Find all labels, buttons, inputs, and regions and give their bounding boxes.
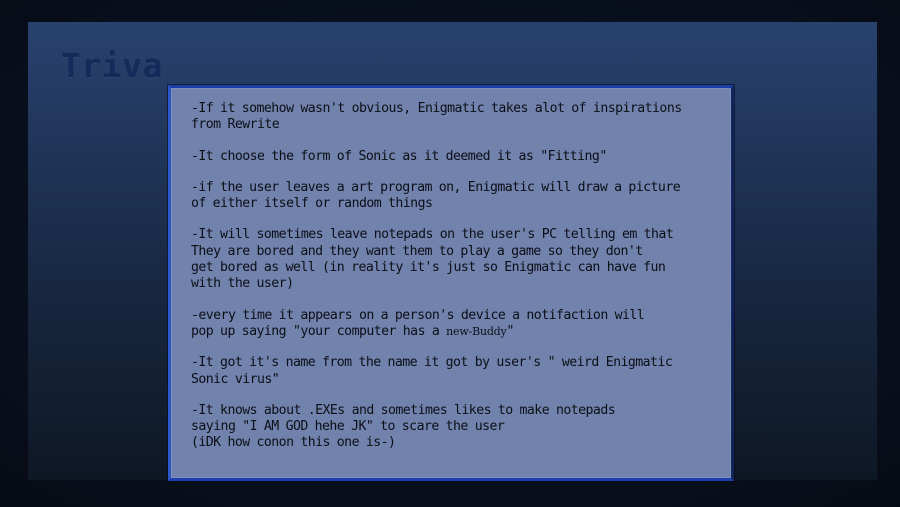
trivia-line: -It got it's name from the name it got b… — [191, 355, 672, 370]
slide-panel: Triva -If it somehow wasn't obvious, Eni… — [28, 22, 877, 480]
trivia-line: Sonic virus" — [191, 372, 279, 387]
trivia-line: (iDK how conon this one is-) — [191, 435, 395, 450]
trivia-text-list: -If it somehow wasn't obvious, Enigmatic… — [191, 101, 721, 452]
trivia-item-notification: -every time it appears on a person's dev… — [191, 308, 721, 341]
trivia-line: -It choose the form of Sonic as it deeme… — [191, 149, 607, 164]
trivia-line: saying "I AM GOD hehe JK" to scare the u… — [191, 419, 504, 434]
page-title: Triva — [61, 46, 163, 85]
trivia-line: -If it somehow wasn't obvious, Enigmatic… — [191, 101, 682, 116]
trivia-item-exes-notepads: -It knows about .EXEs and sometimes like… — [191, 403, 721, 452]
trivia-item-name-origin: -It got it's name from the name it got b… — [191, 355, 721, 388]
trivia-line: -every time it appears on a person's dev… — [191, 308, 644, 339]
trivia-item-art-program: -if the user leaves a art program on, En… — [191, 180, 721, 213]
trivia-line: get bored as well (in reality it's just … — [191, 260, 665, 275]
trivia-line: -if the user leaves a art program on, En… — [191, 180, 680, 195]
slide-root: Triva -If it somehow wasn't obvious, Eni… — [0, 0, 900, 507]
trivia-line: They are bored and they want them to pla… — [191, 244, 643, 259]
trivia-line: -It knows about .EXEs and sometimes like… — [191, 403, 615, 418]
trivia-line: " — [507, 324, 514, 339]
trivia-line: with the user) — [191, 276, 293, 291]
trivia-line: of either itself or random things — [191, 196, 432, 211]
trivia-item-notepads-bored: -It will sometimes leave notepads on the… — [191, 227, 721, 292]
trivia-item-sonic-form: -It choose the form of Sonic as it deeme… — [191, 149, 721, 165]
trivia-item-inspirations: -If it somehow wasn't obvious, Enigmatic… — [191, 101, 721, 134]
trivia-line: from Rewrite — [191, 117, 279, 132]
new-buddy-emphasis: new-Buddy — [446, 325, 506, 338]
trivia-content-box: -If it somehow wasn't obvious, Enigmatic… — [168, 85, 734, 481]
trivia-line: -It will sometimes leave notepads on the… — [191, 227, 673, 242]
